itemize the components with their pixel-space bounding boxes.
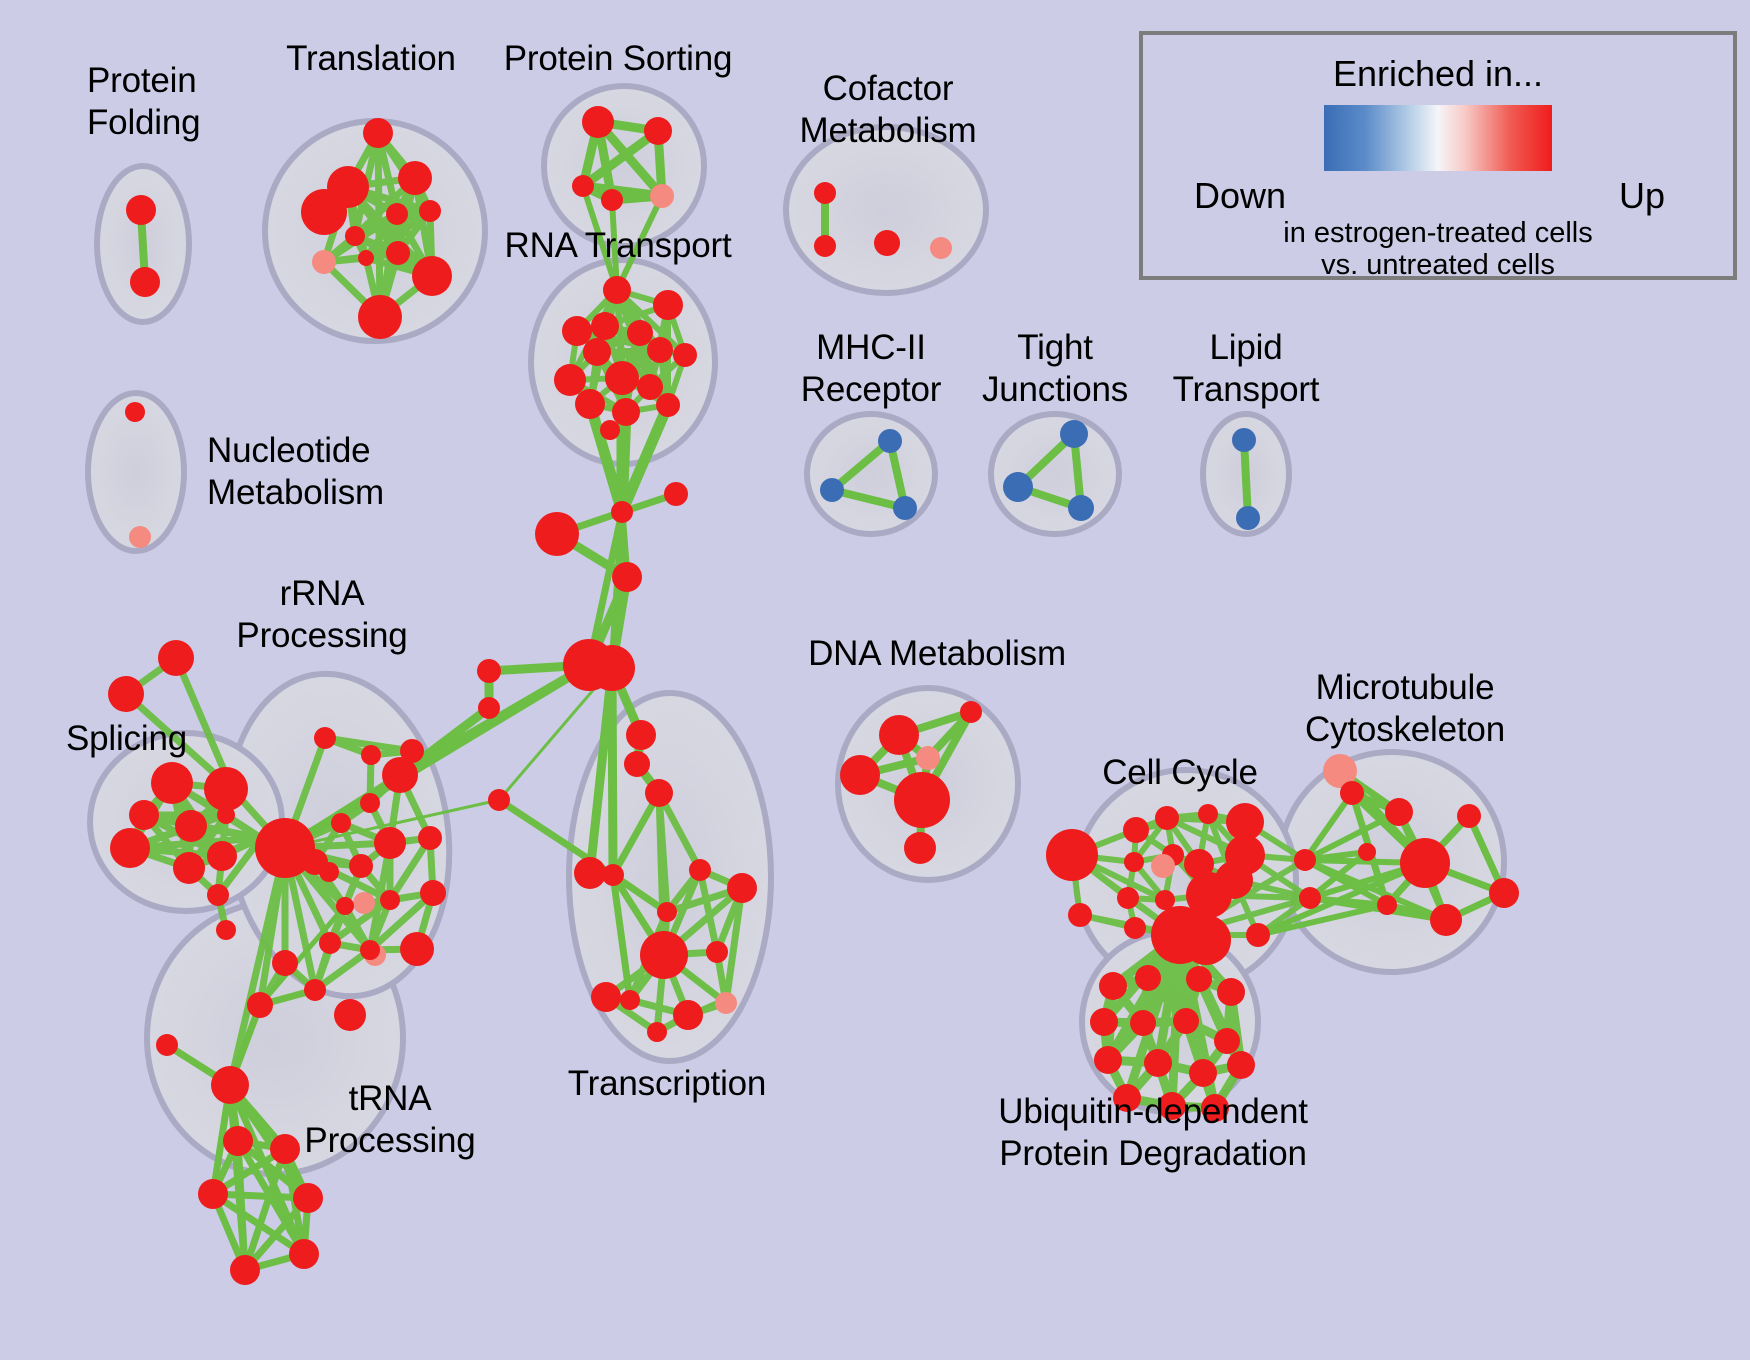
- node-up: [289, 1239, 319, 1269]
- node-up: [360, 940, 380, 960]
- node-up: [358, 295, 402, 339]
- node-up: [1130, 1010, 1156, 1036]
- node-up: [331, 813, 351, 833]
- node-up: [1099, 972, 1127, 1000]
- node-up: [605, 361, 639, 395]
- node-up: [664, 482, 688, 506]
- node-up: [601, 189, 623, 211]
- node-up: [110, 828, 150, 868]
- node-up: [673, 343, 697, 367]
- label-nucleotide-metabolism: Nucleotide Metabolism: [207, 430, 384, 514]
- node-up: [272, 950, 298, 976]
- node-mid: [650, 184, 674, 208]
- node-up: [412, 256, 452, 296]
- node-up: [247, 992, 273, 1018]
- node-down: [893, 496, 917, 520]
- node-up: [319, 862, 339, 882]
- node-up: [125, 402, 145, 422]
- node-up: [647, 1022, 667, 1042]
- node-up: [1489, 878, 1519, 908]
- node-up: [126, 195, 156, 225]
- node-up: [108, 676, 144, 712]
- node-up: [488, 789, 510, 811]
- node-up: [293, 1183, 323, 1213]
- node-up: [173, 852, 205, 884]
- node-up: [336, 897, 354, 915]
- node-up: [334, 999, 366, 1031]
- node-up: [1186, 966, 1212, 992]
- node-up: [151, 762, 193, 804]
- node-up: [591, 982, 621, 1012]
- legend-up-label: Up: [1619, 175, 1665, 217]
- node-up: [591, 312, 619, 340]
- node-up: [611, 501, 633, 523]
- node-up: [879, 715, 919, 755]
- node-up: [1094, 1046, 1122, 1074]
- node-up: [319, 932, 341, 954]
- node-mid: [353, 892, 375, 914]
- node-mid: [930, 237, 952, 259]
- label-transcription: Transcription: [568, 1063, 766, 1105]
- node-up: [647, 337, 673, 363]
- node-up: [1181, 915, 1231, 965]
- node-up: [603, 276, 631, 304]
- node-up: [727, 873, 757, 903]
- cluster-protein-sorting: [544, 86, 704, 246]
- node-up: [894, 772, 950, 828]
- node-up: [477, 659, 501, 683]
- label-ubiquitin-protein-degradation: Ubiquitin-dependent Protein Degradation: [998, 1091, 1308, 1175]
- node-up: [1173, 1008, 1199, 1034]
- legend-color-ramp: [1324, 105, 1552, 171]
- legend-subtitle-line-2: vs. untreated cells: [1143, 249, 1733, 282]
- node-up: [386, 241, 410, 265]
- node-up: [360, 793, 380, 813]
- node-up: [382, 757, 418, 793]
- node-up: [627, 320, 653, 346]
- node-up: [612, 398, 640, 426]
- node-up: [304, 979, 326, 1001]
- node-up: [706, 941, 728, 963]
- label-rrna-processing: rRNA Processing: [236, 573, 407, 657]
- label-lipid-transport: Lipid Transport: [1173, 327, 1320, 411]
- node-up: [689, 859, 711, 881]
- node-mid: [715, 992, 737, 1014]
- node-up: [198, 1179, 228, 1209]
- node-up: [653, 290, 683, 320]
- node-up: [1124, 852, 1144, 872]
- node-up: [657, 902, 677, 922]
- label-trna-processing: tRNA Processing: [304, 1078, 475, 1162]
- node-up: [400, 932, 434, 966]
- node-up: [1227, 1051, 1255, 1079]
- node-mid: [129, 526, 151, 548]
- node-up: [656, 393, 680, 417]
- node-up: [1214, 1028, 1240, 1054]
- node-up: [301, 189, 347, 235]
- node-up: [574, 857, 606, 889]
- node-down: [820, 478, 844, 502]
- node-up: [562, 316, 592, 346]
- cluster-tight-junctions: [991, 414, 1119, 534]
- node-up: [1155, 806, 1179, 830]
- node-up: [582, 106, 614, 138]
- node-down: [1232, 428, 1256, 452]
- color-legend: Enriched in... Down Up in estrogen-treat…: [1139, 31, 1737, 280]
- node-up: [1117, 887, 1139, 909]
- node-up: [1246, 923, 1270, 947]
- label-protein-folding: Protein Folding: [87, 60, 200, 144]
- node-up: [673, 1000, 703, 1030]
- node-up: [223, 1126, 253, 1156]
- node-up: [418, 826, 442, 850]
- node-up: [314, 727, 336, 749]
- node-up: [640, 931, 688, 979]
- node-up: [1155, 890, 1175, 910]
- node-mid: [312, 250, 336, 274]
- node-up: [207, 884, 229, 906]
- node-up: [478, 697, 500, 719]
- node-up: [620, 990, 640, 1010]
- node-up: [624, 751, 650, 777]
- node-down: [1236, 506, 1260, 530]
- node-up: [626, 720, 656, 750]
- node-up: [1189, 1059, 1217, 1087]
- label-cofactor-metabolism: Cofactor Metabolism: [800, 68, 977, 152]
- node-up: [572, 175, 594, 197]
- node-up: [130, 267, 160, 297]
- node-up: [204, 767, 248, 811]
- node-up: [874, 230, 900, 256]
- node-up: [217, 806, 235, 824]
- node-up: [1377, 895, 1397, 915]
- node-up: [1135, 965, 1161, 991]
- label-dna-metabolism: DNA Metabolism: [808, 633, 1066, 675]
- node-down: [1068, 495, 1094, 521]
- node-up: [644, 117, 672, 145]
- node-up: [1090, 1008, 1118, 1036]
- cluster-mhc-ii-receptor: [807, 414, 935, 534]
- label-protein-sorting: Protein Sorting: [504, 38, 733, 80]
- node-up: [158, 640, 194, 676]
- legend-title: Enriched in...: [1143, 53, 1733, 95]
- node-up: [1340, 781, 1364, 805]
- node-up: [1215, 861, 1253, 899]
- node-up: [904, 832, 936, 864]
- node-up: [349, 854, 373, 878]
- node-up: [1358, 843, 1376, 861]
- node-up: [380, 890, 400, 910]
- legend-subtitle-line-1: in estrogen-treated cells: [1143, 217, 1733, 250]
- node-up: [840, 755, 880, 795]
- node-up: [420, 880, 446, 906]
- node-up: [583, 338, 611, 366]
- node-up: [814, 235, 836, 257]
- node-down: [878, 429, 902, 453]
- node-down: [1003, 472, 1033, 502]
- label-cell-cycle: Cell Cycle: [1102, 752, 1258, 794]
- node-up: [814, 182, 836, 204]
- node-up: [363, 118, 393, 148]
- node-up: [960, 701, 982, 723]
- node-mid: [1151, 854, 1175, 878]
- label-microtubule-cytoskeleton: Microtubule Cytoskeleton: [1305, 667, 1505, 751]
- label-mhc-ii-receptor: MHC-II Receptor: [801, 327, 941, 411]
- node-up: [419, 200, 441, 222]
- node-up: [1068, 903, 1092, 927]
- node-up: [1124, 917, 1146, 939]
- node-down: [1060, 420, 1088, 448]
- node-up: [575, 389, 605, 419]
- node-up: [612, 562, 642, 592]
- node-up: [1217, 978, 1245, 1006]
- node-up: [1046, 829, 1098, 881]
- node-up: [1144, 1049, 1172, 1077]
- node-up: [386, 203, 408, 225]
- legend-down-label: Down: [1194, 175, 1286, 217]
- node-up: [535, 512, 579, 556]
- label-splicing: Splicing: [66, 718, 187, 760]
- node-up: [1385, 798, 1413, 826]
- enrichment-map-figure: Protein Folding Translation Protein Sort…: [0, 0, 1750, 1360]
- node-up: [1198, 804, 1218, 824]
- node-up: [645, 779, 673, 807]
- node-up: [1457, 804, 1481, 828]
- node-up: [1299, 887, 1321, 909]
- label-tight-junctions: Tight Junctions: [982, 327, 1128, 411]
- node-up: [1430, 904, 1462, 936]
- node-up: [216, 920, 236, 940]
- node-up: [345, 226, 365, 246]
- node-up: [1123, 817, 1149, 843]
- node-up: [358, 250, 374, 266]
- node-up: [175, 810, 207, 842]
- node-up: [270, 1134, 300, 1164]
- node-up: [230, 1255, 260, 1285]
- node-up: [600, 420, 620, 440]
- node-up: [156, 1034, 178, 1056]
- node-up: [129, 800, 159, 830]
- node-up: [398, 161, 432, 195]
- node-up: [374, 827, 406, 859]
- node-up: [207, 841, 237, 871]
- node-up: [361, 745, 381, 765]
- node-up: [637, 374, 663, 400]
- node-mid: [916, 746, 940, 770]
- node-up: [1400, 838, 1450, 888]
- label-rna-transport: RNA Transport: [505, 225, 732, 267]
- node-up: [589, 645, 635, 691]
- node-up: [211, 1066, 249, 1104]
- node-up: [554, 364, 586, 396]
- label-translation: Translation: [286, 38, 456, 80]
- node-up: [1294, 849, 1316, 871]
